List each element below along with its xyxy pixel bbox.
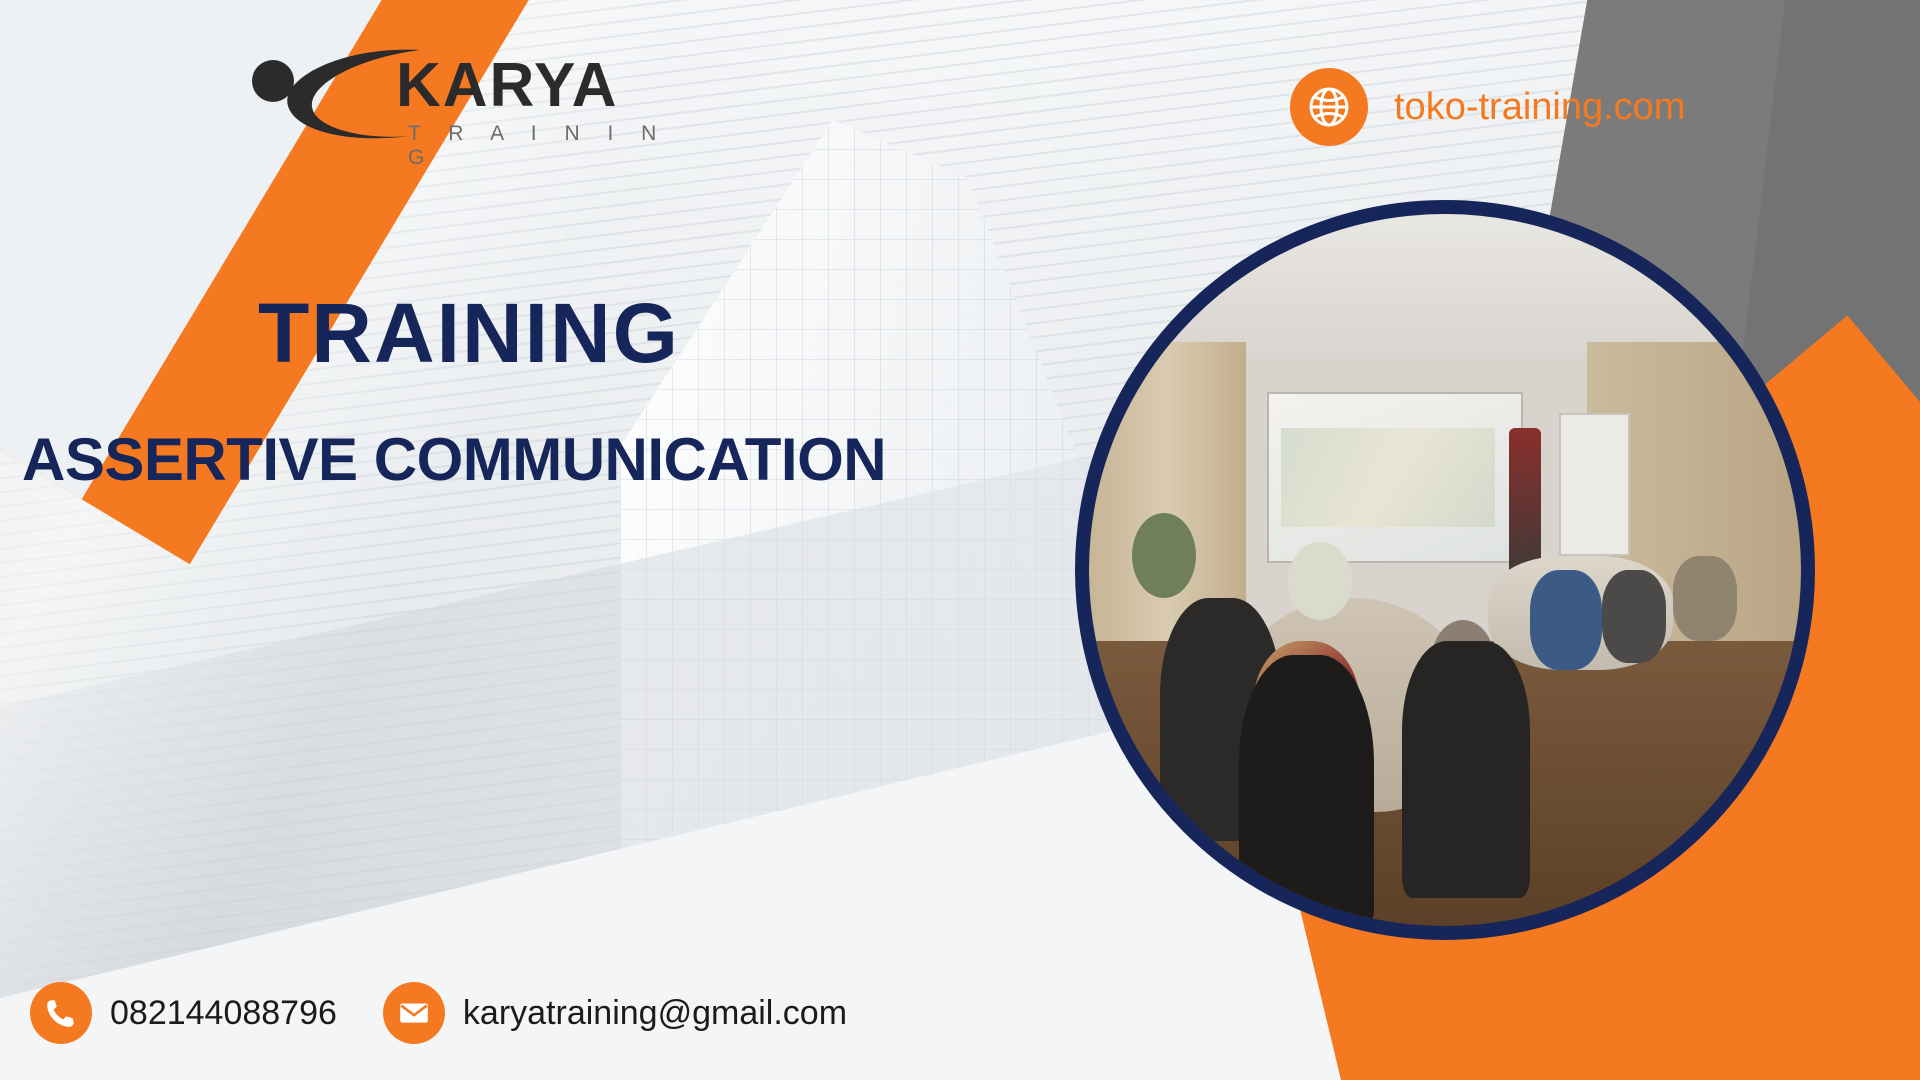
contact-phone-label: 082144088796 [110, 994, 337, 1033]
photo-participant-front-center [1239, 655, 1374, 926]
globe-icon [1290, 68, 1368, 146]
photo-participant-back-2 [1602, 570, 1666, 663]
training-poster: KARYA T R A I N I N G toko-training.com … [0, 0, 1920, 1080]
photo-flower-centerpiece [1288, 542, 1352, 620]
karya-training-logo: KARYA T R A I N I N G [248, 42, 678, 162]
photo-flipchart [1559, 413, 1630, 555]
photo-participant-back-1 [1530, 570, 1601, 670]
website-url[interactable]: toko-training.com [1394, 86, 1685, 129]
training-session-photo [1075, 200, 1815, 940]
photo-slide-content [1281, 428, 1495, 528]
email-icon [383, 982, 445, 1044]
contact-phone[interactable]: 082144088796 [30, 982, 337, 1044]
contact-bar: 082144088796 karyatraining@gmail.com [30, 982, 847, 1044]
page-subtitle: ASSERTIVE COMMUNICATION [22, 425, 886, 494]
page-title: TRAINING [258, 285, 680, 382]
photo-participant-front-right [1402, 641, 1530, 897]
contact-email-label: karyatraining@gmail.com [463, 994, 847, 1033]
website-block[interactable]: toko-training.com [1290, 68, 1685, 146]
photo-plant [1132, 513, 1196, 598]
logo-tagline: T R A I N I N G [408, 122, 678, 170]
photo-participant-back-3 [1673, 556, 1737, 641]
phone-icon [30, 982, 92, 1044]
contact-email[interactable]: karyatraining@gmail.com [383, 982, 847, 1044]
logo-wordmark: KARYA [396, 50, 618, 121]
